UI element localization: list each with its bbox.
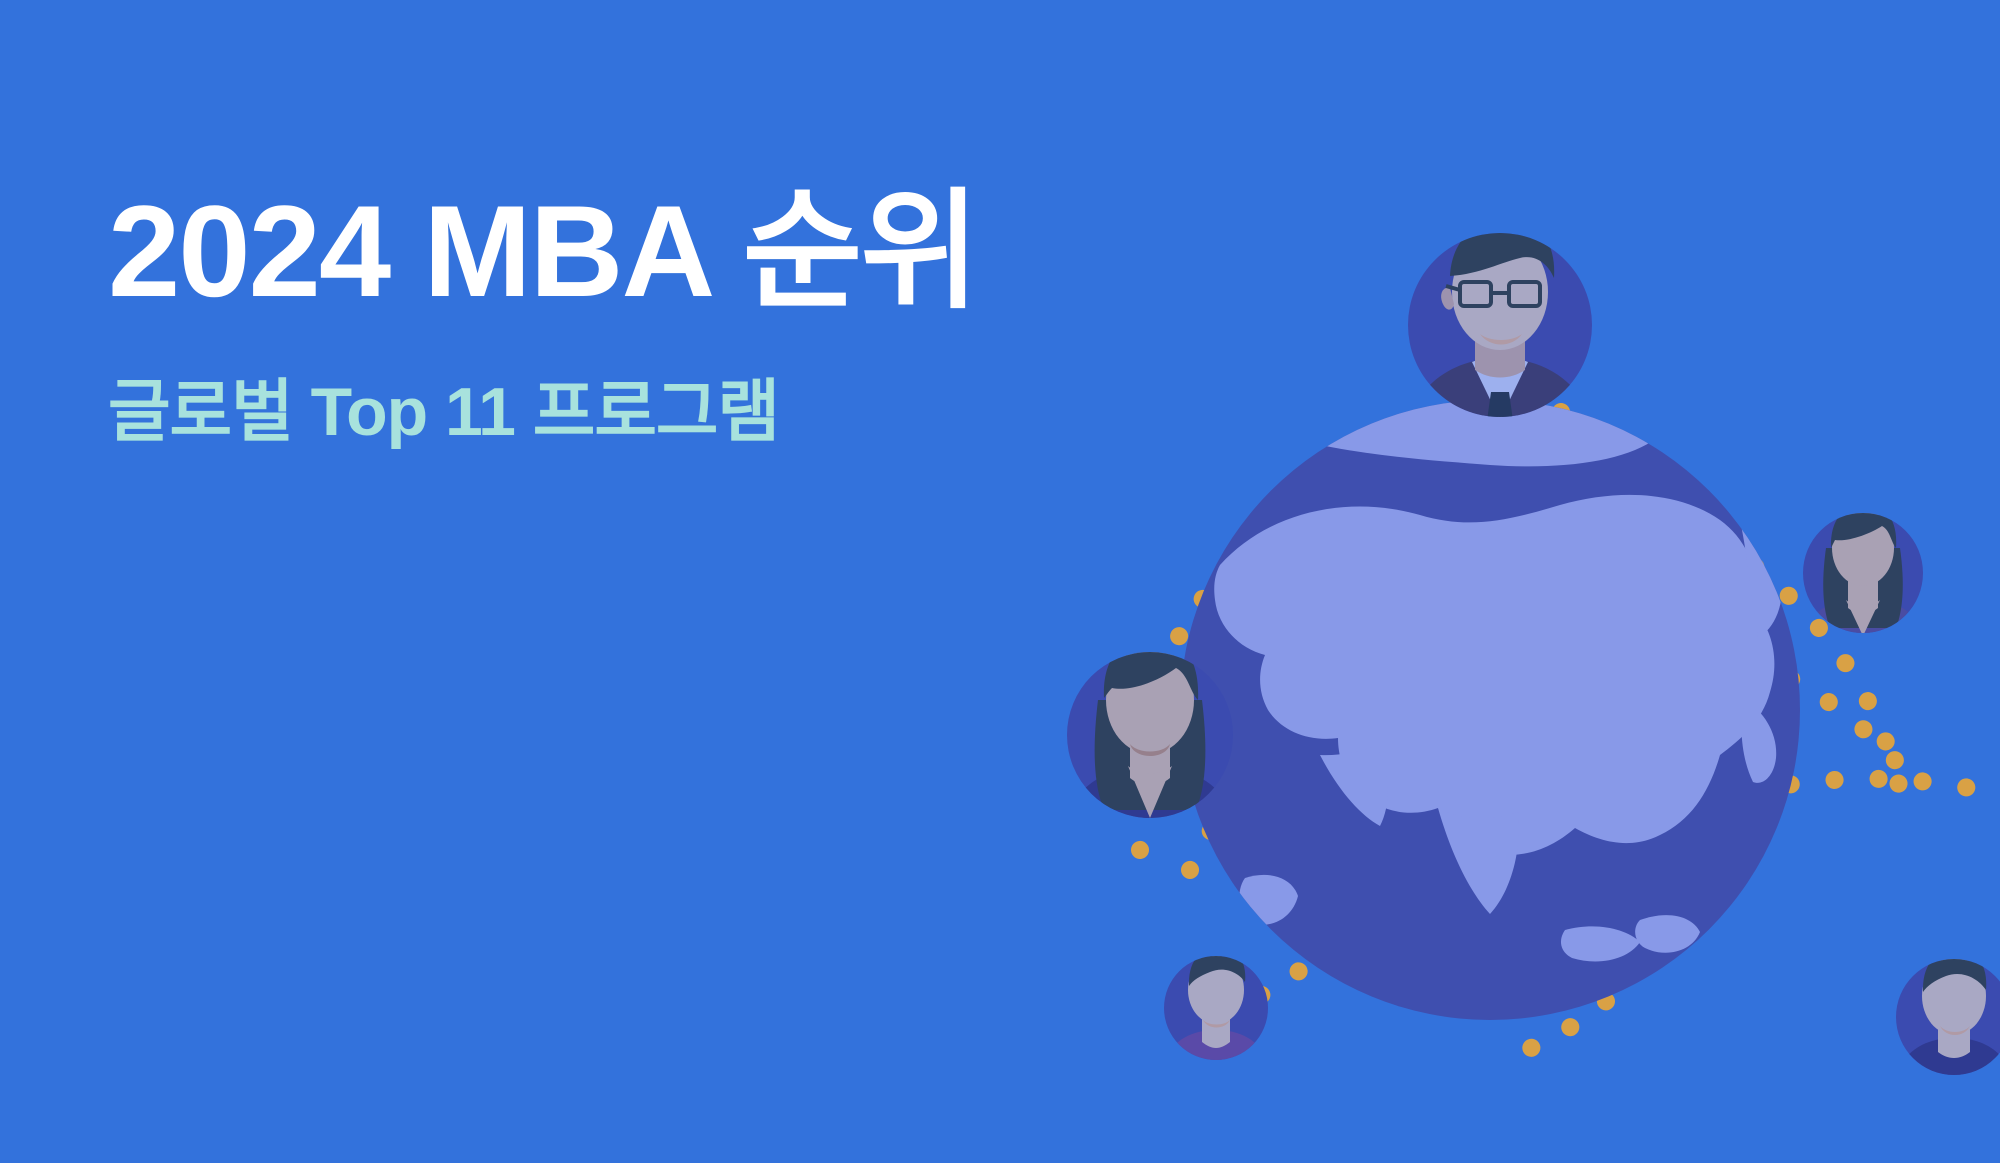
global-network-illustration xyxy=(1020,230,2000,1163)
page-subtitle: 글로벌 Top 11 프로그램 xyxy=(108,378,1108,446)
mba-ranking-banner: 2024 MBA 순위 글로벌 Top 11 프로그램 xyxy=(0,0,2000,1163)
globe xyxy=(1180,386,1852,1109)
land-antarctic xyxy=(1300,1027,1800,1106)
avatar-bottom-left-person xyxy=(1164,948,1268,1068)
land-australia xyxy=(1665,976,1852,1110)
land-island-se-3 xyxy=(1756,925,1850,961)
headline-block: 2024 MBA 순위 글로벌 Top 11 프로그램 xyxy=(108,186,1108,446)
avatar-bottom-right-man xyxy=(1896,950,2000,1082)
page-title: 2024 MBA 순위 xyxy=(108,186,1108,316)
